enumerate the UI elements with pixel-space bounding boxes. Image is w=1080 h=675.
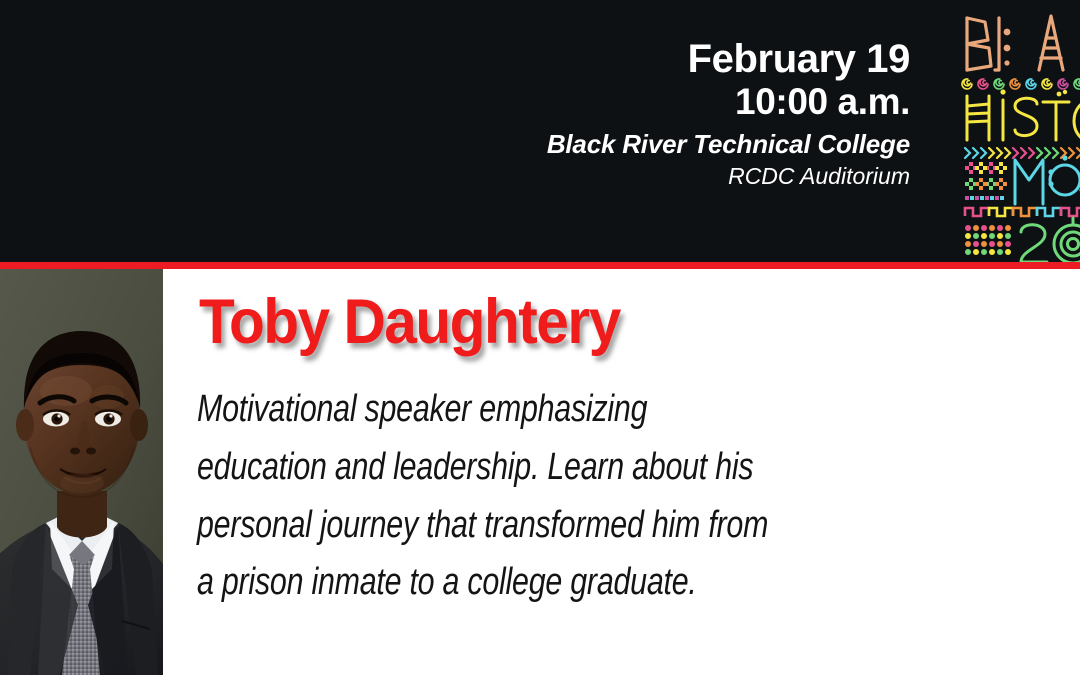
event-date: February 19 bbox=[290, 38, 910, 81]
speaker-description: Motivational speaker emphasizing educati… bbox=[197, 381, 941, 612]
description-line: Motivational speaker emphasizing bbox=[197, 381, 941, 439]
description-line: education and leadership. Learn about hi… bbox=[197, 439, 941, 497]
event-room: RCDC Auditorium bbox=[290, 162, 910, 191]
event-time: 10:00 a.m. bbox=[290, 81, 910, 122]
event-poster: February 19 10:00 a.m. Black River Techn… bbox=[0, 0, 1080, 675]
description-line: a prison inmate to a college graduate. bbox=[197, 554, 941, 612]
poster-header: February 19 10:00 a.m. Black River Techn… bbox=[0, 0, 1080, 262]
speaker-portrait bbox=[0, 269, 163, 675]
description-line: personal journey that transformed him fr… bbox=[197, 497, 941, 555]
speaker-content-panel: Toby Daughtery Motivational speaker emph… bbox=[163, 269, 1080, 675]
event-venue: Black River Technical College bbox=[290, 128, 910, 161]
red-divider bbox=[0, 262, 1080, 269]
black-history-month-logo bbox=[955, 0, 1080, 262]
event-details-block: February 19 10:00 a.m. Black River Techn… bbox=[290, 38, 910, 191]
speaker-name: Toby Daughtery bbox=[199, 286, 620, 358]
